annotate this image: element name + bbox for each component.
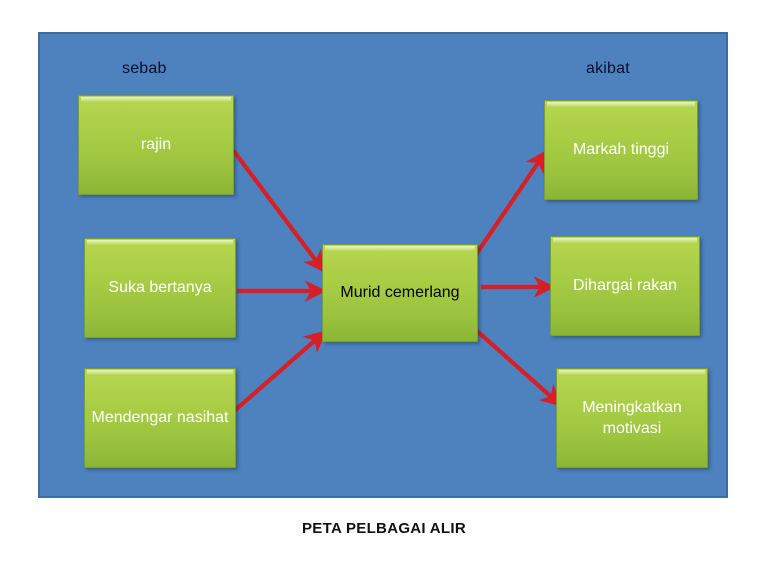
node-rajin-label: rajin <box>141 134 171 155</box>
node-dihargai-rakan[interactable]: Dihargai rakan <box>550 236 700 336</box>
node-mendengar-nasihat[interactable]: Mendengar nasihat <box>84 368 236 468</box>
node-meningkatkan-motivasi[interactable]: Meningkatkan motivasi <box>556 368 708 468</box>
node-murid-cemerlang-label: Murid cemerlang <box>340 282 459 303</box>
node-meningkatkan-motivasi-label: Meningkatkan motivasi <box>563 397 701 439</box>
diagram-caption: PETA PELBAGAI ALIR <box>0 520 768 537</box>
column-label-akibat: akibat <box>586 60 630 78</box>
column-label-sebab: sebab <box>122 60 167 78</box>
node-dihargai-rakan-label: Dihargai rakan <box>573 275 677 296</box>
node-markah-tinggi-label: Markah tinggi <box>573 139 669 160</box>
node-murid-cemerlang[interactable]: Murid cemerlang <box>322 244 478 342</box>
node-rajin[interactable]: rajin <box>78 95 234 195</box>
node-markah-tinggi[interactable]: Markah tinggi <box>544 100 698 200</box>
node-suka-bertanya[interactable]: Suka bertanya <box>84 238 236 338</box>
diagram-canvas: sebab akibat rajin Suka bertanya Mendeng… <box>0 0 768 576</box>
node-mendengar-nasihat-label: Mendengar nasihat <box>92 407 229 428</box>
node-suka-bertanya-label: Suka bertanya <box>108 277 211 298</box>
